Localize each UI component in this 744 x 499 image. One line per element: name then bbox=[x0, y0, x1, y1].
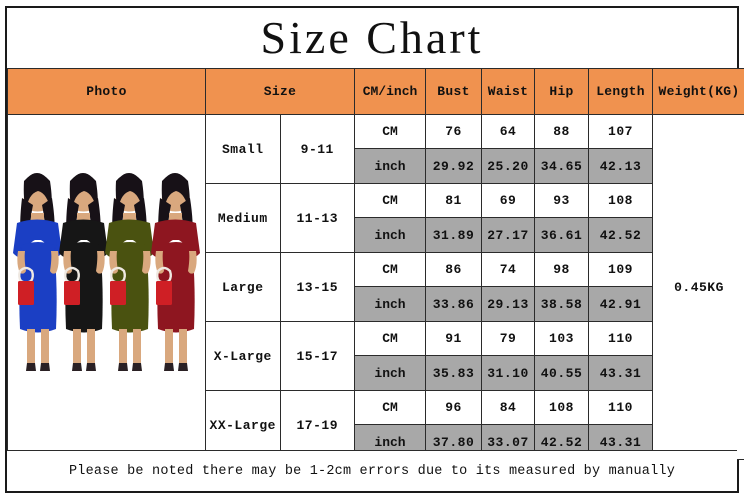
unit-label-inch: inch bbox=[355, 149, 426, 184]
unit-label-inch: inch bbox=[355, 356, 426, 391]
cell-hip-cm: 93 bbox=[535, 184, 589, 218]
unit-label-cm: CM bbox=[355, 184, 426, 218]
cell-waist-cm: 64 bbox=[482, 115, 535, 149]
cell-hip-cm: 88 bbox=[535, 115, 589, 149]
cell-waist-inch: 27.17 bbox=[482, 218, 535, 253]
cell-bust-cm: 91 bbox=[426, 322, 482, 356]
cell-hip-cm: 98 bbox=[535, 253, 589, 287]
table-header: Photo Size CM/inch Bust Waist Hip Length… bbox=[8, 69, 744, 115]
cell-hip-inch: 38.58 bbox=[535, 287, 589, 322]
size-number-large: 13-15 bbox=[280, 253, 355, 322]
table-row: Small 9-11 CM 76 64 88 107 0.45KG bbox=[8, 115, 744, 149]
size-number-medium: 11-13 bbox=[280, 184, 355, 253]
cell-waist-inch: 31.10 bbox=[482, 356, 535, 391]
table-body: Small 9-11 CM 76 64 88 107 0.45KG inch 2… bbox=[8, 115, 744, 460]
unit-label-inch: inch bbox=[355, 287, 426, 322]
cell-length-inch: 42.52 bbox=[589, 218, 653, 253]
column-header-bust: Bust bbox=[426, 69, 482, 115]
cell-hip-cm: 108 bbox=[535, 391, 589, 425]
size-number-x-large: 15-17 bbox=[280, 322, 355, 391]
unit-label-inch: inch bbox=[355, 218, 426, 253]
cell-bust-inch: 33.86 bbox=[426, 287, 482, 322]
size-chart-page: Size Chart Photo Size CM/inch Bust Waist… bbox=[0, 0, 744, 499]
unit-label-cm: CM bbox=[355, 322, 426, 356]
cell-bust-cm: 81 bbox=[426, 184, 482, 218]
unit-label-cm: CM bbox=[355, 253, 426, 287]
column-header-length: Length bbox=[589, 69, 653, 115]
column-header-size: Size bbox=[206, 69, 355, 115]
cell-hip-inch: 36.61 bbox=[535, 218, 589, 253]
size-name-x-large: X-Large bbox=[206, 322, 281, 391]
unit-label-cm: CM bbox=[355, 391, 426, 425]
cell-waist-cm: 79 bbox=[482, 322, 535, 356]
footer-note-text: Please be noted there may be 1-2cm error… bbox=[69, 464, 675, 479]
cell-waist-cm: 84 bbox=[482, 391, 535, 425]
cell-bust-inch: 35.83 bbox=[426, 356, 482, 391]
cell-waist-cm: 74 bbox=[482, 253, 535, 287]
size-number-small: 9-11 bbox=[280, 115, 355, 184]
cell-hip-cm: 103 bbox=[535, 322, 589, 356]
title-band: Size Chart bbox=[7, 8, 737, 68]
cell-bust-inch: 29.92 bbox=[426, 149, 482, 184]
unit-label-cm: CM bbox=[355, 115, 426, 149]
cell-bust-inch: 31.89 bbox=[426, 218, 482, 253]
cell-length-inch: 43.31 bbox=[589, 356, 653, 391]
cell-waist-inch: 29.13 bbox=[482, 287, 535, 322]
cell-length-cm: 110 bbox=[589, 391, 653, 425]
cell-length-inch: 42.91 bbox=[589, 287, 653, 322]
cell-weight: 0.45KG bbox=[653, 115, 744, 460]
cell-bust-cm: 76 bbox=[426, 115, 482, 149]
cell-length-cm: 108 bbox=[589, 184, 653, 218]
cell-length-cm: 107 bbox=[589, 115, 653, 149]
column-header-weight: Weight(KG) bbox=[653, 69, 744, 115]
header-row: Photo Size CM/inch Bust Waist Hip Length… bbox=[8, 69, 744, 115]
cell-bust-cm: 86 bbox=[426, 253, 482, 287]
cell-length-cm: 109 bbox=[589, 253, 653, 287]
column-header-waist: Waist bbox=[482, 69, 535, 115]
product-photo-cell bbox=[8, 115, 206, 460]
cell-hip-inch: 40.55 bbox=[535, 356, 589, 391]
cell-length-cm: 110 bbox=[589, 322, 653, 356]
cell-length-inch: 42.13 bbox=[589, 149, 653, 184]
size-name-medium: Medium bbox=[206, 184, 281, 253]
column-header-cminch: CM/inch bbox=[355, 69, 426, 115]
cell-bust-cm: 96 bbox=[426, 391, 482, 425]
page-title: Size Chart bbox=[261, 15, 484, 61]
cell-waist-cm: 69 bbox=[482, 184, 535, 218]
footer-note: Please be noted there may be 1-2cm error… bbox=[7, 450, 737, 491]
models-illustration bbox=[8, 119, 205, 456]
size-chart-table: Photo Size CM/inch Bust Waist Hip Length… bbox=[7, 68, 744, 460]
column-header-photo: Photo bbox=[8, 69, 206, 115]
cell-waist-inch: 25.20 bbox=[482, 149, 535, 184]
size-name-large: Large bbox=[206, 253, 281, 322]
column-header-hip: Hip bbox=[535, 69, 589, 115]
size-name-small: Small bbox=[206, 115, 281, 184]
cell-hip-inch: 34.65 bbox=[535, 149, 589, 184]
